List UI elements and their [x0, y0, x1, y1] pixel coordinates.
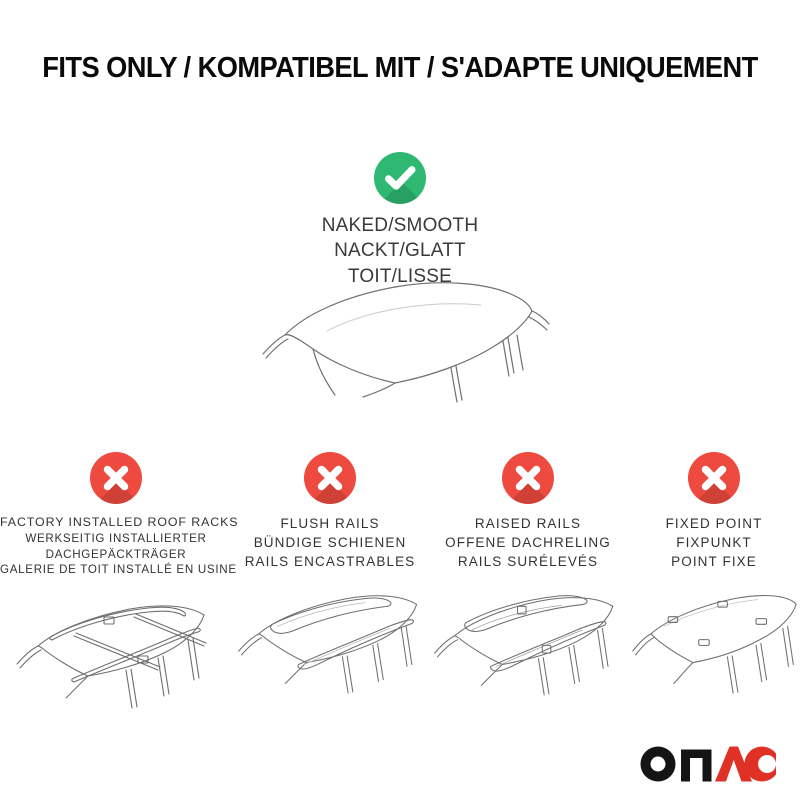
- rejected-label-fr: RAILS SURÉLEVÉS: [428, 552, 628, 571]
- rejected-label: FIXED POINT FIXPUNKT POINT FIXE: [628, 514, 800, 571]
- page-title: FITS ONLY / KOMPATIBEL MIT / S'ADAPTE UN…: [24, 52, 776, 85]
- rejected-roof-type-raised-rails: RAISED RAILS OFFENE DACHRELING RAILS SUR…: [428, 452, 628, 744]
- rejected-label-en: FIXED POINT: [628, 514, 800, 533]
- logo-letter-m: [681, 750, 712, 782]
- rejected-label-fr: GALERIE DE TOIT INSTALLÉ EN USINE: [0, 562, 232, 578]
- rejected-label-de: OFFENE DACHRELING: [428, 533, 628, 552]
- approved-label-en: NAKED/SMOOTH: [0, 213, 800, 238]
- check-circle-icon: [374, 152, 426, 204]
- rejected-label-de-2: DACHGEPÄCKTRÄGER: [0, 547, 232, 563]
- logo-letter-o: [641, 747, 676, 782]
- rejected-label: FLUSH RAILS BÜNDIGE SCHIENEN RAILS ENCAS…: [232, 514, 428, 571]
- car-roof-factory-racks-illustration: [0, 584, 232, 744]
- rejected-roof-type-factory-racks: FACTORY INSTALLED ROOF RACKS WERKSEITIG …: [0, 452, 232, 744]
- approved-roof-type: NAKED/SMOOTH NACKT/GLATT TOIT/LISSE: [0, 152, 800, 289]
- approved-label-de: NACKT/GLATT: [0, 238, 800, 263]
- rejected-label-en: FLUSH RAILS: [232, 514, 428, 533]
- rejected-label-en: RAISED RAILS: [428, 514, 628, 533]
- rejected-label-de: BÜNDIGE SCHIENEN: [232, 533, 428, 552]
- rejected-roof-types: FACTORY INSTALLED ROOF RACKS WERKSEITIG …: [0, 452, 800, 744]
- rejected-roof-type-flush-rails: FLUSH RAILS BÜNDIGE SCHIENEN RAILS ENCAS…: [232, 452, 428, 744]
- x-circle-icon: [502, 452, 554, 504]
- rejected-label-fr: RAILS ENCASTRABLES: [232, 552, 428, 571]
- x-circle-icon: [90, 452, 142, 504]
- x-circle-icon: [688, 452, 740, 504]
- omac-logo: [636, 740, 778, 784]
- x-circle-icon: [304, 452, 356, 504]
- car-roof-naked-smooth-illustration: [255, 275, 555, 405]
- rejected-label: FACTORY INSTALLED ROOF RACKS WERKSEITIG …: [0, 514, 232, 578]
- rejected-label-en: FACTORY INSTALLED ROOF RACKS: [0, 514, 232, 531]
- car-roof-fixed-point-illustration: [628, 577, 800, 737]
- car-roof-flush-rails-illustration: [232, 577, 428, 737]
- car-roof-raised-rails-illustration: [428, 577, 628, 737]
- rejected-label-de: FIXPUNKT: [628, 533, 800, 552]
- rejected-roof-type-fixed-point: FIXED POINT FIXPUNKT POINT FIXE: [628, 452, 800, 744]
- rejected-label-fr: POINT FIXE: [628, 552, 800, 571]
- rejected-label-de: WERKSEITIG INSTALLIERTER: [0, 531, 232, 547]
- rejected-label: RAISED RAILS OFFENE DACHRELING RAILS SUR…: [428, 514, 628, 571]
